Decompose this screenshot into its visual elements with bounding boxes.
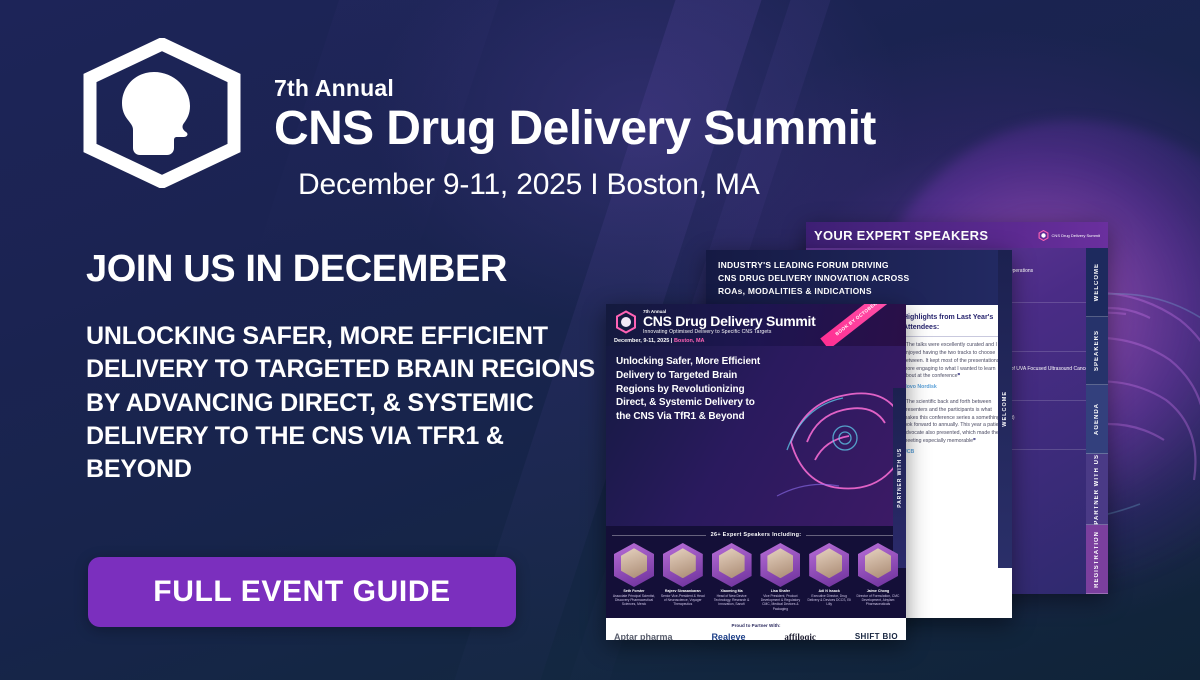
hero-headline: UNLOCKING SAFER, MORE EFFICIENT DELIVERY… [86, 320, 606, 486]
brochure-stack: YOUR EXPERT SPEAKERS CNS Drug Delivery S… [606, 222, 1166, 642]
avatar [809, 543, 849, 587]
hexagon-head-icon [76, 38, 248, 188]
list-item[interactable]: Jaime Chong Director of Formulation, CMC… [856, 543, 900, 611]
divider [612, 535, 706, 536]
list-item[interactable]: Seth Forster Associate Principal Scienti… [612, 543, 656, 611]
highlights-title: Highlights from Last Year's Attendees: [903, 313, 1005, 337]
event-kicker: 7th Annual [274, 75, 876, 102]
quote-mark-icon: ❞ [973, 438, 976, 444]
tab-label: WELCOME [1002, 391, 1008, 427]
cover-date-text: December, 9-11, 2025 | [614, 338, 674, 344]
avatar [663, 543, 703, 587]
partner-logo-realeve: Realeve [711, 632, 745, 640]
full-event-guide-button[interactable]: FULL EVENT GUIDE [88, 557, 516, 627]
tab-registration[interactable]: REGISTRATION [1086, 525, 1108, 594]
testimonial-attribution: UCB [903, 449, 1005, 457]
mini-logo-text: CNS Drug Delivery Summit [1052, 233, 1100, 238]
testimonial-attribution: Novo Nordisk [903, 384, 1005, 392]
attendee-highlights: Highlights from Last Year's Attendees: ❝… [896, 305, 1012, 618]
forum-banner-line: CNS DRUG DELIVERY INNOVATION ACROSS [718, 272, 1002, 285]
speaker-role: Vice President, Product Development & Re… [758, 594, 802, 611]
page-tab-rail: WELCOME SPEAKERS AGENDA PARTNER WITH US … [1086, 248, 1108, 594]
mini-logo: CNS Drug Delivery Summit [1038, 230, 1100, 241]
avatar [760, 543, 800, 587]
tab-label: REGISTRATION [1094, 531, 1100, 588]
speaker-thumbnails: Seth Forster Associate Principal Scienti… [612, 543, 900, 611]
speakers-count-label: 26+ Expert Speakers Including: [711, 532, 802, 538]
tab-label: PARTNER WITH US [897, 448, 903, 508]
cover-date: December, 9-11, 2025 | Boston, MA [614, 338, 898, 344]
quote-mark-icon: ❞ [958, 373, 961, 379]
cover-partners-section: Proud to Partner With: Aptar pharma Real… [606, 618, 906, 640]
avatar [712, 543, 752, 587]
hexagon-head-icon [614, 310, 638, 334]
testimonial-text: The talks were excellently curated and I… [903, 342, 999, 379]
cover-headline: Unlocking Safer, More Efficient Delivery… [616, 355, 763, 424]
forum-banner: INDUSTRY'S LEADING FORUM DRIVING CNS DRU… [706, 250, 1012, 305]
tab-welcome[interactable]: WELCOME [1086, 248, 1108, 317]
tab-partner-with-us[interactable]: PARTNER WITH US [1086, 454, 1108, 526]
cover-title: CNS Drug Delivery Summit [643, 314, 816, 328]
speakers-page-title: YOUR EXPERT SPEAKERS [814, 228, 988, 243]
partner-logos: Aptar pharma Realeve affiloqic SHIFT BIO [614, 632, 898, 640]
join-us-heading: JOIN US IN DECEMBER [86, 248, 507, 291]
tab-label: PARTNER WITH US [1094, 454, 1100, 525]
brochure-cover-page[interactable]: 7th Annual CNS Drug Delivery Summit Inno… [606, 304, 906, 640]
speaker-role: Associate Principal Scientist, Discovery… [612, 594, 656, 607]
forum-banner-line: INDUSTRY'S LEADING FORUM DRIVING [718, 259, 1002, 272]
tab-agenda[interactable]: AGENDA [1086, 385, 1108, 454]
speaker-role: Executive Director, Drug Delivery & Devi… [807, 594, 851, 607]
cover-speakers-section: 26+ Expert Speakers Including: Seth Fors… [606, 526, 906, 618]
partner-logo-aptar: Aptar pharma [614, 632, 673, 640]
speaker-name: Rajeev Sivasankaran [661, 589, 705, 594]
tab-label: SPEAKERS [1094, 330, 1100, 371]
forum-page-tab[interactable]: WELCOME [998, 250, 1012, 568]
cover-tagline: Innovating Optimised Delivery to Specifi… [643, 329, 816, 335]
event-logo-block: 7th Annual CNS Drug Delivery Summit [76, 38, 876, 188]
event-date-location: December 9-11, 2025 I Boston, MA [298, 168, 760, 202]
partners-label: Proud to Partner With: [614, 623, 898, 628]
cover-city: Boston, MA [674, 338, 705, 344]
list-item[interactable]: Lisa Shafer Vice President, Product Deve… [758, 543, 802, 611]
partner-logo-shiftbio: SHIFT BIO [855, 632, 898, 640]
speaker-role: Senior Vice-President & Head of Neurosci… [661, 594, 705, 607]
tab-label: AGENDA [1094, 403, 1100, 435]
avatar [858, 543, 898, 587]
forum-banner-line: ROAs, MODALITIES & INDICATIONS [718, 285, 1002, 298]
cover-hero: Unlocking Safer, More Efficient Delivery… [606, 346, 906, 526]
page-title: CNS Drug Delivery Summit [274, 104, 876, 154]
speakers-label-row: 26+ Expert Speakers Including: [612, 532, 900, 538]
testimonial: ❝The talks were excellently curated and … [903, 342, 1005, 392]
hexagon-head-icon [1038, 230, 1049, 241]
cover-brain-art [771, 346, 906, 526]
list-item[interactable]: Xiaoming Ma Head of New Device Technolog… [710, 543, 754, 611]
speakers-page-header: YOUR EXPERT SPEAKERS CNS Drug Delivery S… [806, 222, 1108, 248]
avatar [614, 543, 654, 587]
speaker-role: Director of Formulation, CMC Development… [856, 594, 900, 607]
promo-banner: 7th Annual CNS Drug Delivery Summit Dece… [0, 0, 1200, 680]
tab-label: WELCOME [1094, 263, 1100, 301]
list-item[interactable]: Adi N Issack Executive Director, Drug De… [807, 543, 851, 611]
cover-header: 7th Annual CNS Drug Delivery Summit Inno… [606, 304, 906, 346]
speaker-role: Head of New Device Technology, Research … [710, 594, 754, 607]
divider [806, 535, 900, 536]
cover-page-tab[interactable]: PARTNER WITH US [893, 388, 906, 568]
partner-logo-affiloqic: affiloqic [784, 632, 816, 640]
list-item[interactable]: Rajeev Sivasankaran Senior Vice-Presiden… [661, 543, 705, 611]
testimonial-text: The scientific back and forth between pr… [903, 399, 1003, 444]
testimonial: ❝The scientific back and forth between p… [903, 399, 1005, 457]
tab-speakers[interactable]: SPEAKERS [1086, 317, 1108, 386]
